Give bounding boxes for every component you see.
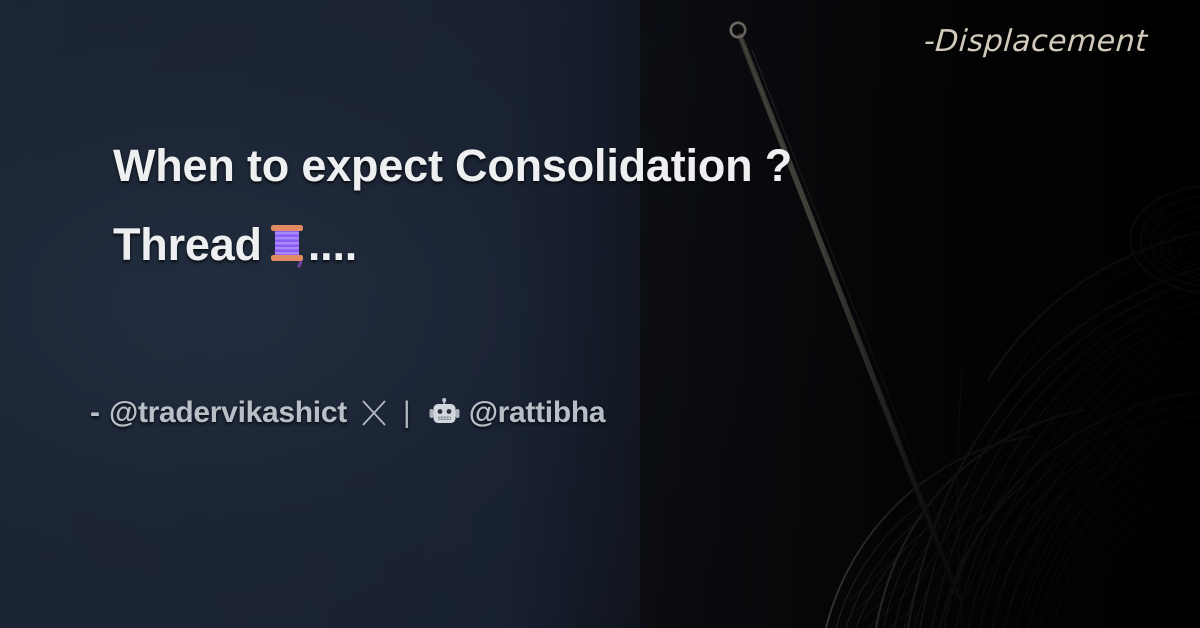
attribution-dash: - [90, 396, 100, 430]
displacement-watermark: -Displacement [923, 24, 1149, 59]
thread-spool-emoji [267, 222, 307, 268]
robot-emoji [429, 398, 460, 429]
headline-line-2-suffix: .... [308, 219, 357, 270]
social-share-card: -Displacement When to expect Consolidati… [0, 0, 1200, 628]
headline-line-1: When to expect Consolidation ? [113, 126, 993, 205]
headline-line-2-text: Thread [113, 219, 262, 270]
headline-line-2: Thread .... [113, 205, 993, 284]
source-handle[interactable]: @rattibha [469, 396, 606, 430]
attribution-line: - @tradervikashict | [90, 396, 605, 430]
page-title: When to expect Consolidation ? Thread [113, 126, 993, 284]
separator-pipe: | [403, 396, 411, 430]
author-handle[interactable]: @tradervikashict [109, 396, 347, 430]
text-content-block: When to expect Consolidation ? Thread [113, 126, 993, 284]
right-edge-fade [0, 0, 1200, 628]
x-logo-icon [361, 399, 389, 427]
